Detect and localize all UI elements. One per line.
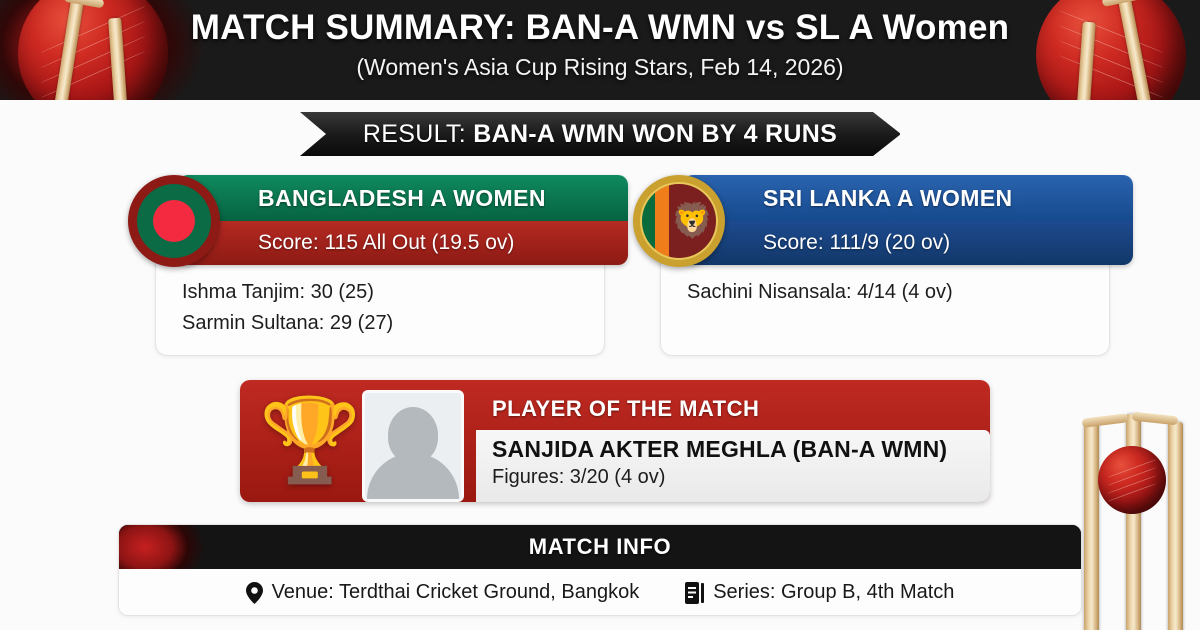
header-banner: MATCH SUMMARY: BAN-A WMN vs SL A Women (…: [0, 0, 1200, 100]
team-score: Score: 111/9 (20 ov): [683, 221, 1133, 265]
page-subtitle: (Women's Asia Cup Rising Stars, Feb 14, …: [0, 54, 1200, 81]
team-performers: Sachini Nisansala: 4/14 (4 ov): [687, 277, 1091, 308]
team-card-srilanka: SRI LANKA A WOMEN Score: 111/9 (20 ov) 🦁…: [660, 176, 1110, 356]
team-card-bangladesh: BANGLADESH A WOMEN Score: 115 All Out (1…: [155, 176, 605, 356]
cricket-bail-icon: [1082, 413, 1129, 428]
bangladesh-flag-icon: [128, 175, 220, 267]
srilanka-flag-icon: 🦁: [633, 175, 725, 267]
potm-title: PLAYER OF THE MATCH: [476, 388, 990, 430]
result-value: BAN-A WMN WON BY 4 RUNS: [473, 120, 837, 148]
ball-seam: [1098, 446, 1166, 514]
document-icon: [685, 582, 704, 604]
location-pin-icon: [246, 582, 263, 604]
team-banner: SRI LANKA A WOMEN Score: 111/9 (20 ov): [683, 175, 1133, 265]
performer-line: Sarmin Sultana: 29 (27): [182, 308, 586, 339]
team-performers: Ishma Tanjim: 30 (25) Sarmin Sultana: 29…: [182, 277, 586, 339]
cricket-ball-icon: [1098, 446, 1166, 514]
lion-emblem-icon: 🦁: [669, 184, 716, 258]
match-info-card: MATCH INFO Venue: Terdthai Cricket Groun…: [118, 524, 1082, 616]
match-info-series: Series: Group B, 4th Match: [685, 581, 954, 604]
team-score: Score: 115 All Out (19.5 ov): [178, 221, 628, 265]
page-title: MATCH SUMMARY: BAN-A WMN vs SL A Women: [0, 6, 1200, 50]
venue-text: Venue: Terdthai Cricket Ground, Bangkok: [272, 581, 640, 604]
series-text: Series: Group B, 4th Match: [713, 581, 954, 604]
performer-line: Sachini Nisansala: 4/14 (4 ov): [687, 277, 1091, 308]
match-info-title: MATCH INFO: [529, 534, 671, 560]
match-info-header: MATCH INFO: [119, 525, 1081, 569]
team-name: BANGLADESH A WOMEN: [178, 175, 628, 221]
cricket-stump-icon: [1084, 422, 1099, 630]
result-prefix: RESULT:: [363, 120, 473, 148]
cricket-stump-icon: [1168, 422, 1183, 630]
team-name: SRI LANKA A WOMEN: [683, 175, 1133, 221]
trophy-icon: 🏆: [258, 388, 362, 494]
potm-player-name: SANJIDA AKTER MEGHLA (BAN-A WMN): [492, 436, 990, 463]
cricket-bail-icon: [1132, 412, 1179, 426]
match-info-venue: Venue: Terdthai Cricket Ground, Bangkok: [246, 581, 640, 604]
performer-line: Ishma Tanjim: 30 (25): [182, 277, 586, 308]
potm-figures: Figures: 3/20 (4 ov): [492, 466, 990, 489]
player-of-the-match-card: 🏆 PLAYER OF THE MATCH SANJIDA AKTER MEGH…: [240, 380, 990, 502]
cricket-stump-icon: [1126, 414, 1141, 630]
team-banner: BANGLADESH A WOMEN Score: 115 All Out (1…: [178, 175, 628, 265]
cricket-stumps-icon: [1070, 410, 1200, 630]
player-avatar-icon: [362, 390, 464, 502]
result-banner: RESULT: BAN-A WMN WON BY 4 RUNS: [300, 112, 900, 156]
result-text: RESULT: BAN-A WMN WON BY 4 RUNS: [363, 120, 837, 149]
